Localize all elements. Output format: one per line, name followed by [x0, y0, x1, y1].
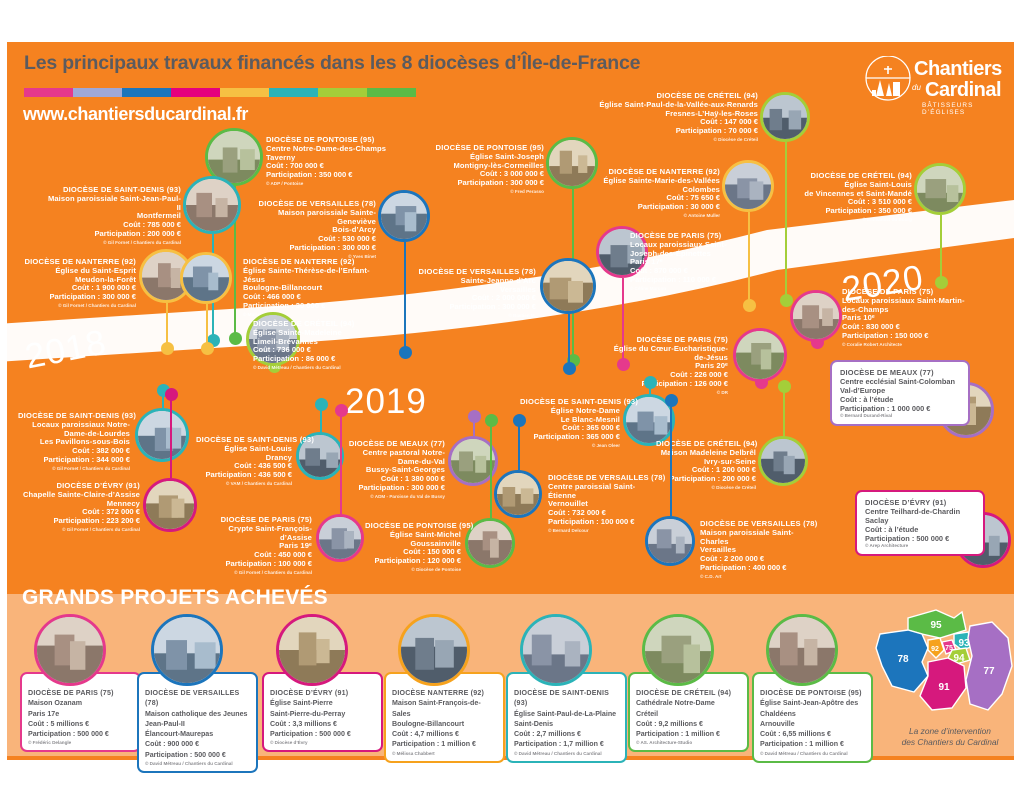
achieved-card-cost: Coût : 5 millions € — [28, 719, 133, 729]
entry-photo[interactable] — [790, 290, 842, 342]
achieved-card-participation: Participation : 1 million € — [636, 729, 741, 739]
entry-credit: © Fred Perasso — [416, 189, 544, 194]
achieved-card-name: Église Saint-Paul-de-La-Plaine — [514, 709, 619, 719]
entry-name: Église Sainte-Thérèse-de-l’Enfant-Jésus — [243, 267, 375, 285]
entry-text: DIOCÈSE DE VERSAILLES (78)Centre paroiss… — [548, 474, 660, 533]
entry-photo[interactable] — [143, 478, 197, 532]
entry-name: Locaux paroissiaux Saint-Martin-des-Cham… — [842, 297, 970, 315]
entry-name: Locaux paroissiaux Notre-Dame-de-Lourdes — [18, 421, 130, 439]
timeline-dot[interactable] — [778, 380, 791, 393]
timeline-dot[interactable] — [399, 346, 412, 359]
achieved-card-box: DIOCÈSE DE PONTOISE (95)Église Saint-Jea… — [752, 672, 873, 763]
entry-text: DIOCÈSE DE MEAUX (77)Centre pastoral Not… — [345, 440, 445, 499]
entry-credit: © Diocèse de Pontoise — [365, 567, 461, 572]
entry-credit: © David Métreau / Chantiers du Cardinal — [253, 365, 385, 370]
entry-participation: Participation : 300 000 € — [416, 179, 544, 188]
study-entry-cost: Coût : à l’étude — [840, 395, 960, 404]
achieved-card-photo[interactable] — [276, 614, 348, 686]
entry-participation: Participation : 344 000 € — [18, 456, 130, 465]
svg-text:95: 95 — [930, 620, 942, 631]
entry-text: DIOCÈSE DE NANTERRE (92)Église Sainte-Th… — [243, 258, 375, 317]
study-entry-credit: © Bernard Durand-Rival — [840, 413, 960, 418]
timeline-stem — [490, 420, 492, 518]
entry-photo[interactable] — [758, 436, 808, 486]
map-dept-78: 78 — [876, 630, 928, 692]
timeline-dot[interactable] — [315, 398, 328, 411]
timeline-stem — [518, 420, 520, 470]
entry-participation: Participation : 110 000 € — [630, 276, 756, 285]
achieved-card-participation: Participation : 1 million € — [392, 739, 497, 749]
study-entry-credit: © Arep Architecture — [865, 543, 975, 548]
entry-participation: Participation : 126 000 € — [610, 380, 728, 389]
entry-text: DIOCÈSE DE SAINT-DENIS (93)Locaux parois… — [18, 412, 130, 471]
entry-text: DIOCÈSE D’ÉVRY (91)Chapelle Sainte-Clair… — [22, 482, 140, 532]
entry-credit: © Diocèse de Créteil — [576, 137, 758, 142]
timeline-dot[interactable] — [165, 388, 178, 401]
entry-participation: Participation : 100 000 € — [214, 560, 312, 569]
entry-name: Maison paroissiale Saint-Charles — [700, 529, 818, 547]
achieved-card-name: Cathédrale Notre-Dame — [636, 698, 741, 708]
entry-photo[interactable] — [914, 163, 966, 215]
study-entry-diocese: DIOCÈSE DE MEAUX (77) — [840, 368, 960, 377]
achieved-card-cost: Coût : 3,3 millions € — [270, 719, 375, 729]
map-dept-91: 91 — [920, 658, 966, 710]
entry-participation: Participation : 150 000 € — [842, 332, 970, 341]
entry-photo[interactable] — [540, 258, 596, 314]
timeline-stem — [170, 394, 172, 478]
study-entry-name: Centre Teilhard-de-Chardin — [865, 507, 975, 516]
map-dept-92: 92 — [928, 638, 944, 658]
study-entry-city: Saclay — [865, 516, 975, 525]
entry-photo[interactable] — [546, 137, 598, 189]
entry-photo[interactable] — [645, 516, 695, 566]
timeline-dot[interactable] — [743, 299, 756, 312]
entry-credit: © Gil Fornet / Chantiers du Cardinal — [18, 466, 130, 471]
achieved-card-participation: Participation : 500 000 € — [145, 750, 250, 760]
entry-participation: Participation : 350 000 € — [266, 171, 396, 180]
achieved-card-participation: Participation : 1,7 million € — [514, 739, 619, 749]
svg-text:77: 77 — [983, 666, 995, 677]
achieved-card-name: Église Saint-Pierre — [270, 698, 375, 708]
achieved-card-photo[interactable] — [766, 614, 838, 686]
entry-participation: Participation : 436 500 € — [196, 471, 292, 480]
entry-participation: Participation : 70 000 € — [576, 127, 758, 136]
entry-participation: Participation : 300 000 € — [412, 303, 536, 312]
achieved-card-cost: Coût : 2,7 millions € — [514, 729, 619, 739]
entry-photo[interactable] — [733, 328, 787, 382]
entry-text: DIOCÈSE DE SAINT-DENIS (93)Église Notre-… — [520, 398, 620, 448]
study-entry-cost: Coût : à l’étude — [865, 525, 975, 534]
timeline-dot[interactable] — [485, 414, 498, 427]
timeline-dot[interactable] — [780, 294, 793, 307]
entry-credit: © Gil Fornet / Chantiers du Cardinal — [45, 240, 181, 245]
timeline-stem — [783, 386, 785, 436]
achieved-card-city: Élancourt-Maurepas — [145, 729, 250, 739]
achieved-card-name: Maison catholique des Jeunes Jean-Paul-I… — [145, 709, 250, 730]
entry-text: DIOCÈSE DE PONTOISE (95)Église Saint-Jos… — [416, 144, 544, 194]
timeline-dot[interactable] — [665, 394, 678, 407]
entry-text: DIOCÈSE DE PONTOISE (95)Église Saint-Mic… — [365, 522, 461, 572]
timeline-stem — [340, 410, 342, 514]
achieved-card-diocese: DIOCÈSE NANTERRE (92) — [392, 688, 497, 698]
timeline-stem — [404, 242, 406, 352]
study-entry-participation: Participation : 500 000 € — [865, 534, 975, 543]
achieved-card-cost: Coût : 9,2 millions € — [636, 719, 741, 729]
achieved-card-credit: © Frédéric Delangle — [28, 740, 133, 745]
infographic-poster: Les principaux travaux financés dans les… — [0, 0, 1021, 800]
entry-participation: Participation : 300 000 € — [248, 244, 376, 253]
entry-participation: Participation : 300 000 € — [345, 484, 445, 493]
entry-text: DIOCÈSE DE NANTERRE (92)Église du Saint-… — [14, 258, 136, 308]
achieved-card-participation: Participation : 500 000 € — [270, 729, 375, 739]
entry-credit: © Bastien M. — [412, 313, 536, 318]
entry-name: Centre paroissial Saint-Étienne — [548, 483, 660, 501]
entry-text: DIOCÈSE DE PARIS (75)Crypte Saint-Franço… — [214, 516, 312, 575]
achieved-card-cost: Coût : 900 000 € — [145, 739, 250, 749]
achieved-card-credit: © David Métreau / Chantiers du Cardinal — [760, 751, 865, 756]
study-entry-name: Centre ecclésial Saint-Colomban — [840, 377, 960, 386]
study-entry-participation: Participation : 1 000 000 € — [840, 404, 960, 413]
svg-text:92: 92 — [931, 646, 939, 653]
entry-credit: © ADP / Pontoise — [266, 181, 396, 186]
entry-credit: © ADM - Paroisse du Val de Bussy — [345, 494, 445, 499]
timeline-dot[interactable] — [201, 342, 214, 355]
achieved-card-participation: Participation : 1 million € — [760, 739, 865, 749]
timeline-stem — [940, 215, 942, 282]
entry-participation: Participation : 120 000 € — [365, 557, 461, 566]
timeline-dot[interactable] — [161, 342, 174, 355]
entry-participation: Participation : 100 000 € — [548, 518, 660, 527]
study-entry-city: Val-d’Europe — [840, 386, 960, 395]
achieved-card-cost: Coût : 6,55 millions € — [760, 729, 865, 739]
entry-photo[interactable] — [135, 408, 189, 462]
achieved-card-city: Arnouville — [760, 719, 865, 729]
entry-photo[interactable] — [180, 252, 232, 304]
achieved-card-box: DIOCÈSE NANTERRE (92)Maison Saint-Franço… — [384, 672, 505, 763]
achieved-card-credit: © Mélissa Chabbert — [392, 751, 497, 756]
achieved-card-diocese: DIOCÈSE DE VERSAILLES (78) — [145, 688, 250, 709]
study-entry-diocese: DIOCÈSE D’ÉVRY (91) — [865, 498, 975, 507]
entry-photo[interactable] — [183, 176, 241, 234]
entry-credit: © Gil Fornet / Chantiers du Cardinal — [214, 570, 312, 575]
achieved-card-diocese: DIOCÈSE DE PARIS (75) — [28, 688, 133, 698]
achieved-card-credit: © Diocèse d’Évry — [270, 740, 375, 745]
entry-text: DIOCÈSE DE PARIS (75)Église du Cœur-Euch… — [610, 336, 728, 395]
map-caption-line2: des Chantiers du Cardinal — [880, 737, 1020, 748]
entry-text: DIOCÈSE DE SAINT-DENIS (93)Église Saint-… — [196, 436, 292, 486]
entry-credit: © VAM / Chantiers du Cardinal — [196, 481, 292, 486]
entry-credit: © Bernard Delcour — [548, 528, 660, 533]
entry-name: Locaux paroissiaux Saint-Joseph-des-Épin… — [630, 241, 756, 259]
entry-participation: Participation : 200 000 € — [45, 230, 181, 239]
entry-credit: © Antoine Muller — [592, 213, 720, 218]
entry-participation: Participation : 400 000 € — [700, 564, 818, 573]
achieved-card-photo[interactable] — [520, 614, 592, 686]
entry-text: DIOCÈSE DE PONTOISE (95)Centre Notre-Dam… — [266, 136, 396, 186]
entry-text: DIOCÈSE DE PARIS (75)Locaux paroissiaux … — [842, 288, 970, 347]
achieved-card-participation: Participation : 500 000 € — [28, 729, 133, 739]
achieved-card-cost: Coût : 4,7 millions € — [392, 729, 497, 739]
entry-name: Centre pastoral Notre-Dame-du-Val — [345, 449, 445, 467]
map-caption-line1: La zone d’intervention — [880, 726, 1020, 737]
achieved-section-title: GRANDS PROJETS ACHEVÉS — [22, 586, 328, 610]
entry-credit: © C.D. Art — [700, 574, 818, 579]
study-entry-box[interactable]: DIOCÈSE DE MEAUX (77)Centre ecclésial Sa… — [830, 360, 970, 426]
entry-credit: © Céline Marcon — [630, 286, 756, 291]
map-dept-77: 77 — [966, 622, 1012, 710]
entry-text: DIOCÈSE DE VERSAILLES (78)Sainte-Jeanne-… — [412, 268, 536, 318]
achieved-card-city: Créteil — [636, 709, 741, 719]
achieved-card-city: Saint-Pierre-du-Perray — [270, 709, 375, 719]
achieved-card-photo[interactable] — [398, 614, 470, 686]
entry-photo[interactable] — [760, 92, 810, 142]
achieved-card-credit: © David Métreau / Chantiers du Cardinal — [145, 761, 250, 766]
entry-text: DIOCÈSE DE CRÉTEIL (94)Église Saint-Loui… — [784, 172, 912, 222]
entry-participation: Participation : 365 000 € — [520, 433, 620, 442]
timeline-dot[interactable] — [513, 414, 526, 427]
entry-credit: © Coralie Robert Architecte — [842, 342, 970, 347]
entry-text: DIOCÈSE DE VERSAILLES (78)Maison paroiss… — [700, 520, 818, 579]
achieved-card-city: Boulogne-Billancourt — [392, 719, 497, 729]
achieved-card-photo[interactable] — [151, 614, 223, 686]
achieved-card-credit: © David Métreau / Chantiers du Cardinal — [514, 751, 619, 756]
achieved-card-diocese: DIOCÈSE DE PONTOISE (95) — [760, 688, 865, 698]
achieved-card-name: Maison Saint-François-de-Sales — [392, 698, 497, 719]
timeline-dot[interactable] — [644, 376, 657, 389]
timeline-stem — [670, 400, 672, 516]
entry-participation: Participation : 350 000 € — [784, 207, 912, 216]
entry-credit: © Jean Oleer — [520, 443, 620, 448]
entry-name: Maison paroissiale Saint-Jean-Paul-II — [45, 195, 181, 213]
achieved-card-diocese: DIOCÈSE DE SAINT-DENIS (93) — [514, 688, 619, 709]
achieved-card-box: DIOCÈSE DE VERSAILLES (78)Maison catholi… — [137, 672, 258, 773]
entry-photo[interactable] — [722, 160, 774, 212]
entry-text: DIOCÈSE DE CRÉTEIL (94)Église Sainte-Mad… — [253, 320, 385, 370]
entry-photo[interactable] — [316, 514, 364, 562]
achieved-card-credit: © AS. Architecture-Studio — [636, 740, 741, 745]
timeline-dot[interactable] — [468, 410, 481, 423]
entry-participation: Participation : 30 000 € — [592, 203, 720, 212]
svg-text:91: 91 — [938, 682, 950, 693]
entry-name: Église du Cœur-Eucharistique-de-Jésus — [610, 345, 728, 363]
timeline-dot[interactable] — [563, 362, 576, 375]
study-entry-box[interactable]: DIOCÈSE D’ÉVRY (91)Centre Teilhard-de-Ch… — [855, 490, 985, 556]
achieved-card-name: Église Saint-Jean-Apôtre des Chaldéens — [760, 698, 865, 719]
timeline-stem — [568, 314, 570, 368]
entry-text: DIOCÈSE DE SAINT-DENIS (93)Maison parois… — [45, 186, 181, 245]
achieved-card-photo[interactable] — [34, 614, 106, 686]
entry-text: DIOCÈSE DE PARIS (75)Locaux paroissiaux … — [630, 232, 756, 291]
entry-photo[interactable] — [494, 470, 542, 518]
year-label-2019: 2019 — [345, 382, 427, 422]
achieved-card-diocese: DIOCÈSE DE CRÉTEIL (94) — [636, 688, 741, 698]
achieved-card-box: DIOCÈSE DE SAINT-DENIS (93)Église Saint-… — [506, 672, 627, 763]
timeline-dot[interactable] — [229, 332, 242, 345]
entry-participation: Participation : 223 200 € — [22, 517, 140, 526]
timeline-dot[interactable] — [335, 404, 348, 417]
entry-participation: Participation : 30 000 € — [243, 302, 375, 311]
achieved-card-photo[interactable] — [642, 614, 714, 686]
entry-name: Crypte Saint-François-d’Assise — [214, 525, 312, 543]
idf-map: 95 78 93 92 75 94 91 77 — [870, 604, 1020, 726]
entry-participation: Participation : 300 000 € — [14, 293, 136, 302]
entry-photo[interactable] — [378, 190, 430, 242]
entry-participation: Participation : 86 000 € — [253, 355, 385, 364]
entry-credit: © Emmanuel du Bourg — [784, 217, 912, 222]
entry-text: DIOCÈSE DE NANTERRE (92)Église Sainte-Ma… — [592, 168, 720, 218]
entry-name: Maison paroissiale Sainte-Geneviève — [248, 209, 376, 227]
achieved-card-diocese: DIOCÈSE D’ÉVRY (91) — [270, 688, 375, 698]
entry-text: DIOCÈSE DE CRÉTEIL (94)Église Saint-Paul… — [576, 92, 758, 142]
entry-text: DIOCÈSE DE VERSAILLES (78)Maison paroiss… — [248, 200, 376, 259]
svg-text:78: 78 — [897, 654, 909, 665]
achieved-card-city: Paris 17e — [28, 709, 133, 719]
entry-credit: © Gil Fornet / Chantiers du Cardinal — [22, 527, 140, 532]
map-caption: La zone d’intervention des Chantiers du … — [880, 726, 1020, 749]
achieved-card-city: Saint-Denis — [514, 719, 619, 729]
entry-credit: © Gil Fornet / Chantiers du Cardinal — [14, 303, 136, 308]
achieved-card-name: Maison Ozanam — [28, 698, 133, 708]
